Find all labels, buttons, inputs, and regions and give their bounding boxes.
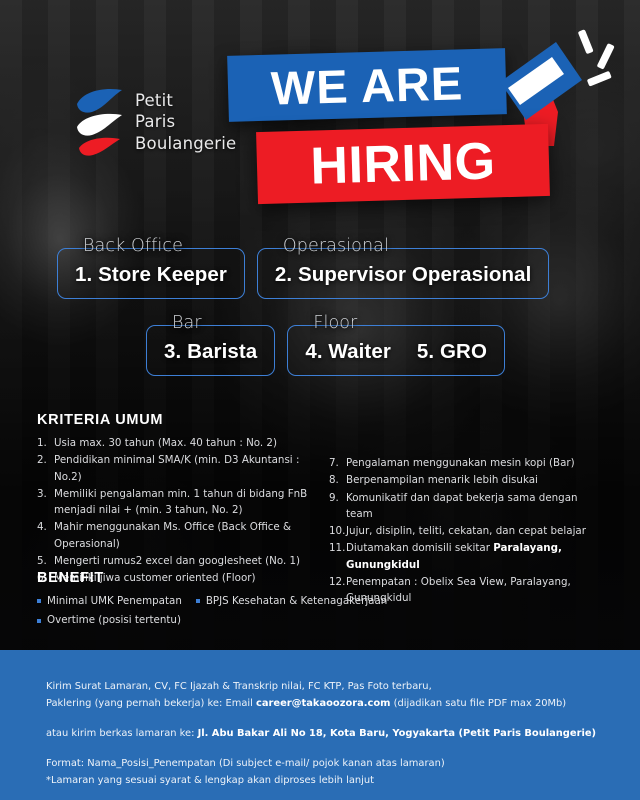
position-job-store-keeper: 1. Store Keeper — [75, 263, 227, 287]
french-flag-swoosh-logo-icon — [74, 86, 126, 158]
footer-submission-block: Kirim Surat Lamaran, CV, FC Ijazah & Tra… — [46, 678, 598, 712]
hiring-poster: Petit Paris Boulangerie WE ARE HIRING — [0, 0, 640, 800]
benefit-item-label: Overtime (posisi tertentu) — [47, 612, 181, 628]
position-box-back-office: Back Office 1. Store Keeper — [57, 248, 245, 299]
positions-section: Back Office 1. Store Keeper Operasional … — [0, 248, 640, 402]
criteria-item-text: Mahir menggunakan Ms. Office (Back Offic… — [54, 519, 311, 552]
position-job-supervisor-operasional: 2. Supervisor Operasional — [275, 263, 532, 287]
position-job-gro: 5. GRO — [417, 340, 487, 364]
criteria-item-text: Berpenampilan menarik lebih disukai — [346, 472, 603, 488]
headline-line-2: HIRING — [310, 135, 496, 192]
benefit-section: BENEFIT Minimal UMK Penempatan BPJS Kese… — [37, 570, 487, 629]
bullet-square-icon — [196, 599, 200, 603]
criteria-item-number: 3. — [37, 486, 54, 519]
benefit-item-label: BPJS Kesehatan & Ketenagakerjaan — [206, 593, 387, 609]
bullet-square-icon — [37, 599, 41, 603]
footer-address-prefix: atau kirim berkas lamaran ke: — [46, 728, 198, 739]
criteria-heading: KRITERIA UMUM — [37, 412, 603, 428]
footer-address-value: Jl. Abu Bakar Ali No 18, Kota Baru, Yogy… — [198, 728, 596, 739]
criteria-item: 5. Mengerti rumus2 excel dan googlesheet… — [37, 553, 311, 569]
benefit-item: BPJS Kesehatan & Ketenagakerjaan — [196, 593, 387, 609]
brand-line-3: Boulangerie — [135, 133, 236, 154]
brand-line-2: Paris — [135, 111, 236, 132]
headline-we-are-banner: WE ARE — [227, 48, 507, 122]
criteria-item-number: 11. — [329, 540, 346, 573]
criteria-item: 11. Diutamakan domisili sekitar Paralaya… — [329, 540, 603, 573]
criteria-item-text: Diutamakan domisili sekitar Paralayang, … — [346, 540, 603, 573]
criteria-item-text: Memiliki pengalaman min. 1 tahun di bida… — [54, 486, 311, 519]
footer-email-suffix: (dijadikan satu file PDF max 20Mb) — [390, 698, 566, 709]
footer-address-line: atau kirim berkas lamaran ke: Jl. Abu Ba… — [46, 725, 598, 742]
brand-line-1: Petit — [135, 90, 236, 111]
benefit-item-label: Minimal UMK Penempatan — [47, 593, 182, 609]
criteria-item-text: Pendidikan minimal SMA/K (min. D3 Akunta… — [54, 452, 311, 485]
criteria-item-number: 1. — [37, 435, 54, 451]
benefit-item: Minimal UMK Penempatan — [37, 593, 182, 609]
position-box-operasional: Operasional 2. Supervisor Operasional — [257, 248, 550, 299]
criteria-item: 3. Memiliki pengalaman min. 1 tahun di b… — [37, 486, 311, 519]
criteria-item-number: 8. — [329, 472, 346, 488]
footer-documents-line: Kirim Surat Lamaran, CV, FC Ijazah & Tra… — [46, 678, 598, 695]
position-category-bar: Bar — [163, 315, 211, 333]
positions-row-1: Back Office 1. Store Keeper Operasional … — [0, 248, 640, 299]
footer-email-line: Paklering (yang pernah bekerja) ke: Emai… — [46, 695, 598, 712]
footer-email-prefix: Paklering (yang pernah bekerja) ke: Emai… — [46, 698, 256, 709]
benefit-heading: BENEFIT — [37, 570, 487, 586]
bullet-square-icon — [37, 619, 41, 623]
position-box-floor: Floor 4. Waiter 5. GRO — [287, 325, 505, 376]
position-job-waiter: 4. Waiter — [305, 340, 391, 364]
criteria-item: 4. Mahir menggunakan Ms. Office (Back Of… — [37, 519, 311, 552]
criteria-item-text: Mengerti rumus2 excel dan googlesheet (N… — [54, 553, 311, 569]
criteria-item-text: Pengalaman menggunakan mesin kopi (Bar) — [346, 455, 603, 471]
criteria-item: 9. Komunikatif dan dapat bekerja sama de… — [329, 490, 603, 523]
position-category-floor: Floor — [304, 315, 366, 333]
footer-contact-section: Kirim Surat Lamaran, CV, FC Ijazah & Tra… — [0, 650, 640, 800]
criteria-item: 8. Berpenampilan menarik lebih disukai — [329, 472, 603, 488]
criteria-item-number: 9. — [329, 490, 346, 523]
footer-format-block: Format: Nama_Posisi_Penempatan (Di subje… — [46, 755, 598, 789]
criteria-item-number: 5. — [37, 553, 54, 569]
headline-line-1: WE ARE — [270, 59, 464, 111]
position-job-barista: 3. Barista — [164, 340, 257, 364]
criteria-item-number: 2. — [37, 452, 54, 485]
footer-format-line: Format: Nama_Posisi_Penempatan (Di subje… — [46, 755, 598, 772]
position-box-bar: Bar 3. Barista — [146, 325, 275, 376]
criteria-item-number: 7. — [329, 455, 346, 471]
criteria-item: 10. Jujur, disiplin, teliti, cekatan, da… — [329, 523, 603, 539]
criteria-item: 2. Pendidikan minimal SMA/K (min. D3 Aku… — [37, 452, 311, 485]
criteria-item-text: Komunikatif dan dapat bekerja sama denga… — [346, 490, 603, 523]
criteria-item-number: 10. — [329, 523, 346, 539]
benefit-item: Overtime (posisi tertentu) — [37, 612, 487, 628]
criteria-item: 1. Usia max. 30 tahun (Max. 40 tahun : N… — [37, 435, 311, 451]
criteria-item-number: 4. — [37, 519, 54, 552]
headline-hiring-banner: HIRING — [256, 124, 550, 204]
criteria-item-text: Jujur, disiplin, teliti, cekatan, dan ce… — [346, 523, 603, 539]
brand-logo: Petit Paris Boulangerie — [74, 86, 236, 158]
positions-row-2: Bar 3. Barista Floor 4. Waiter 5. GRO — [0, 325, 640, 376]
footer-note-line: *Lamaran yang sesuai syarat & lengkap ak… — [46, 772, 598, 789]
footer-email-address: career@takaoozora.com — [256, 698, 390, 709]
brand-name: Petit Paris Boulangerie — [135, 90, 236, 154]
criteria-item-text: Usia max. 30 tahun (Max. 40 tahun : No. … — [54, 435, 311, 451]
footer-address-block: atau kirim berkas lamaran ke: Jl. Abu Ba… — [46, 725, 598, 742]
criteria-item: 7. Pengalaman menggunakan mesin kopi (Ba… — [329, 455, 603, 471]
position-category-back-office: Back Office — [74, 238, 192, 256]
position-category-operasional: Operasional — [274, 238, 398, 256]
criteria-item-text-plain: Diutamakan domisili sekitar — [346, 542, 493, 554]
